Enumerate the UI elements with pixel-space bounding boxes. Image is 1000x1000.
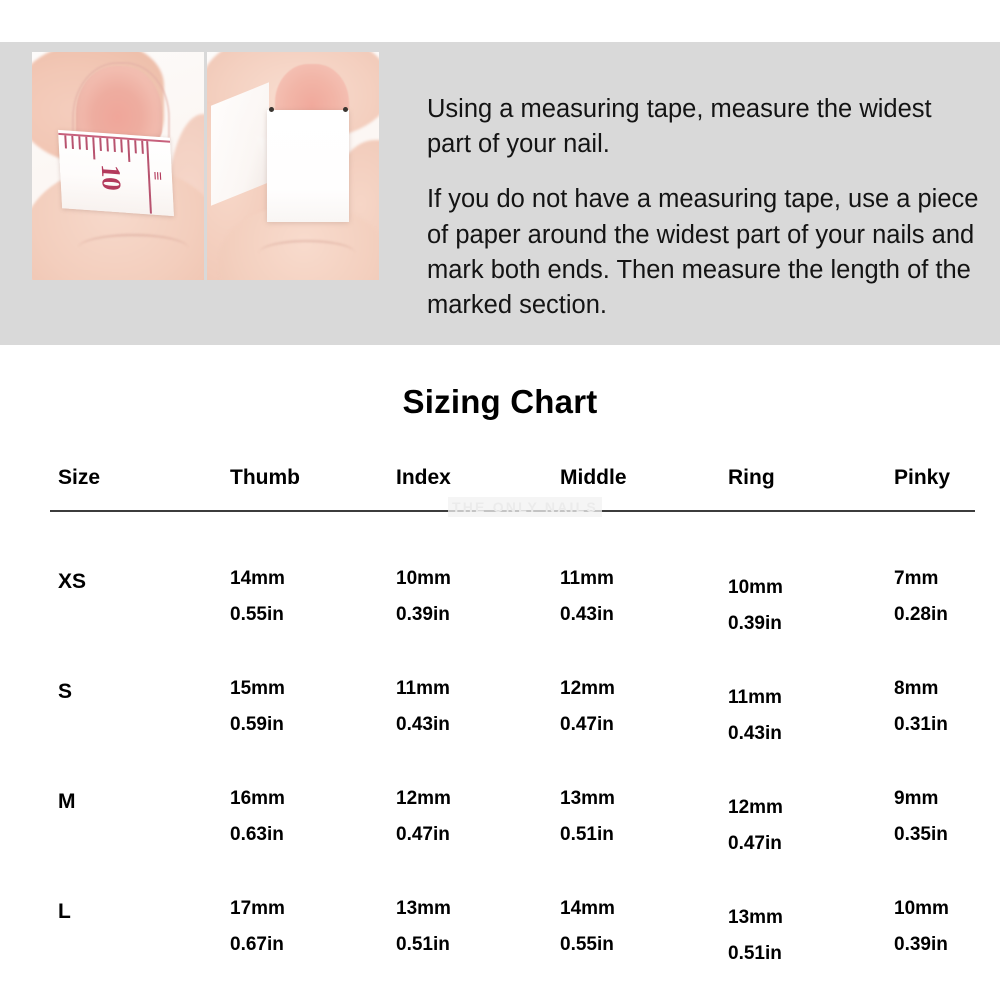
pen-mark-left-icon — [269, 107, 274, 112]
column-header-size: Size — [58, 466, 100, 490]
cell-pinky-mm: 9mm — [894, 788, 938, 810]
tape-secondary-marks: ≡ — [147, 171, 165, 181]
table-row: M 16mm 0.63in 12mm 0.47in 13mm 0.51in 12… — [0, 730, 1000, 840]
cell-index-mm: 12mm — [396, 788, 451, 810]
table-header-row: Size Thumb Index Middle Ring Pinky THE O… — [0, 466, 1000, 510]
instruction-paragraph-1: Using a measuring tape, measure the wide… — [427, 92, 979, 162]
cell-middle-mm: 12mm — [560, 678, 615, 700]
cell-pinky-mm: 10mm — [894, 898, 949, 920]
row-size-label: L — [58, 900, 71, 924]
column-header-pinky: Pinky — [894, 466, 950, 490]
cell-ring-mm: 11mm — [728, 687, 782, 709]
table-row: XS 14mm 0.55in 10mm 0.39in 11mm 0.43in 1… — [0, 510, 1000, 620]
cell-thumb-mm: 16mm — [230, 788, 285, 810]
column-header-ring: Ring — [728, 466, 775, 490]
cell-index-in: 0.51in — [396, 934, 450, 956]
sizing-chart-table: Size Thumb Index Middle Ring Pinky THE O… — [0, 466, 1000, 950]
cell-index-mm: 13mm — [396, 898, 451, 920]
cell-ring-in: 0.51in — [728, 943, 782, 965]
cell-ring-mm: 10mm — [728, 577, 783, 599]
cell-thumb-in: 0.67in — [230, 934, 284, 956]
instruction-paragraph-2: If you do not have a measuring tape, use… — [427, 182, 979, 323]
cell-index-mm: 10mm — [396, 568, 451, 590]
cell-pinky-mm: 7mm — [894, 568, 938, 590]
cell-thumb-mm: 17mm — [230, 898, 285, 920]
finger-with-paper-strip-photo — [207, 52, 379, 280]
column-header-index: Index — [396, 466, 451, 490]
paper-strip-shape — [267, 110, 349, 222]
cell-thumb-mm: 15mm — [230, 678, 285, 700]
cell-ring-mm: 12mm — [728, 797, 783, 819]
row-size-label: M — [58, 790, 76, 814]
instruction-text-block: Using a measuring tape, measure the wide… — [427, 92, 979, 323]
cell-ring-mm: 13mm — [728, 907, 783, 929]
cell-middle-in: 0.55in — [560, 934, 614, 956]
cell-thumb-mm: 14mm — [230, 568, 285, 590]
cell-middle-mm: 11mm — [560, 568, 614, 590]
page-title: Sizing Chart — [0, 383, 1000, 421]
column-header-thumb: Thumb — [230, 466, 300, 490]
pen-mark-right-icon — [343, 107, 348, 112]
knuckle-crease — [78, 234, 188, 262]
cell-pinky-in: 0.39in — [894, 934, 948, 956]
measuring-tape-shape: 10 ≡ — [58, 130, 174, 216]
row-size-label: S — [58, 680, 72, 704]
cell-pinky-mm: 8mm — [894, 678, 938, 700]
cell-middle-mm: 14mm — [560, 898, 615, 920]
table-row: S 15mm 0.59in 11mm 0.43in 12mm 0.47in 11… — [0, 620, 1000, 730]
column-header-middle: Middle — [560, 466, 627, 490]
knuckle-crease — [259, 240, 355, 266]
row-size-label: XS — [58, 570, 86, 594]
finger-with-measuring-tape-photo: 10 ≡ — [32, 52, 204, 280]
cell-middle-mm: 13mm — [560, 788, 615, 810]
tape-number-label: 10 — [95, 163, 127, 190]
table-row: L 17mm 0.67in 13mm 0.51in 14mm 0.55in 13… — [0, 840, 1000, 950]
instruction-photo-pair: 10 ≡ — [32, 52, 380, 280]
cell-index-mm: 11mm — [396, 678, 450, 700]
